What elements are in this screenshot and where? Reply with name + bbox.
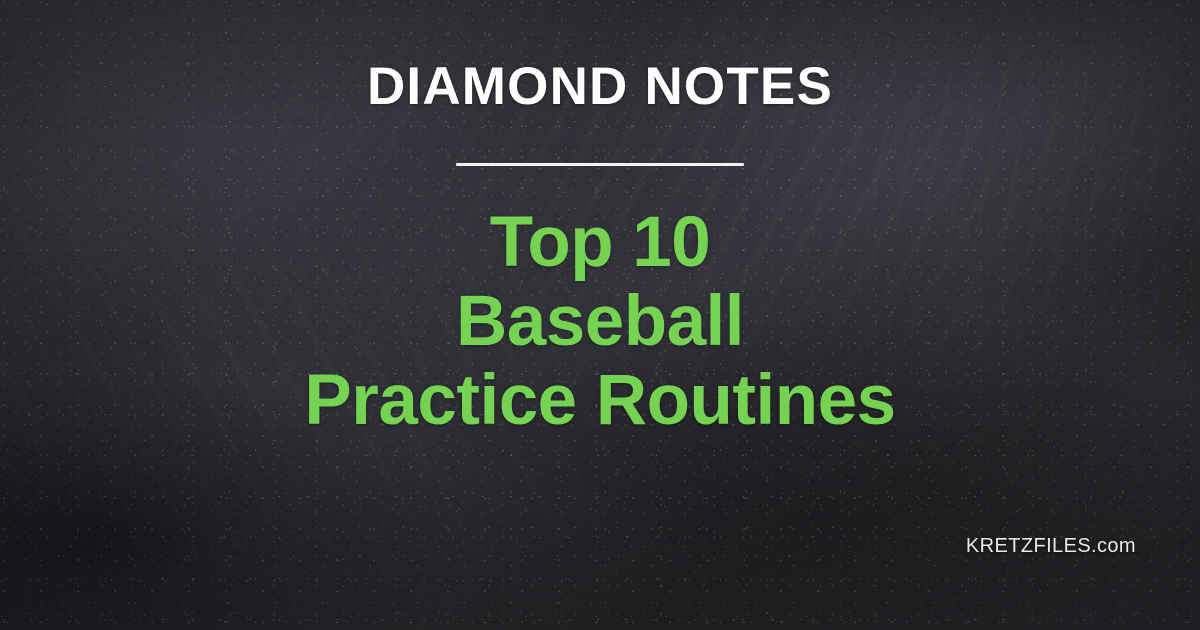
card-content: DIAMOND NOTES Top 10 Baseball Practice R… (0, 0, 1200, 630)
chalkboard-card: DIAMOND NOTES Top 10 Baseball Practice R… (0, 0, 1200, 630)
eyebrow-title: DIAMOND NOTES (367, 60, 833, 113)
headline-line-1: Top 10 (304, 204, 895, 283)
headline-line-3: Practice Routines (304, 362, 895, 441)
headline: Top 10 Baseball Practice Routines (304, 204, 895, 440)
title-divider (456, 163, 744, 166)
headline-line-2: Baseball (304, 283, 895, 362)
